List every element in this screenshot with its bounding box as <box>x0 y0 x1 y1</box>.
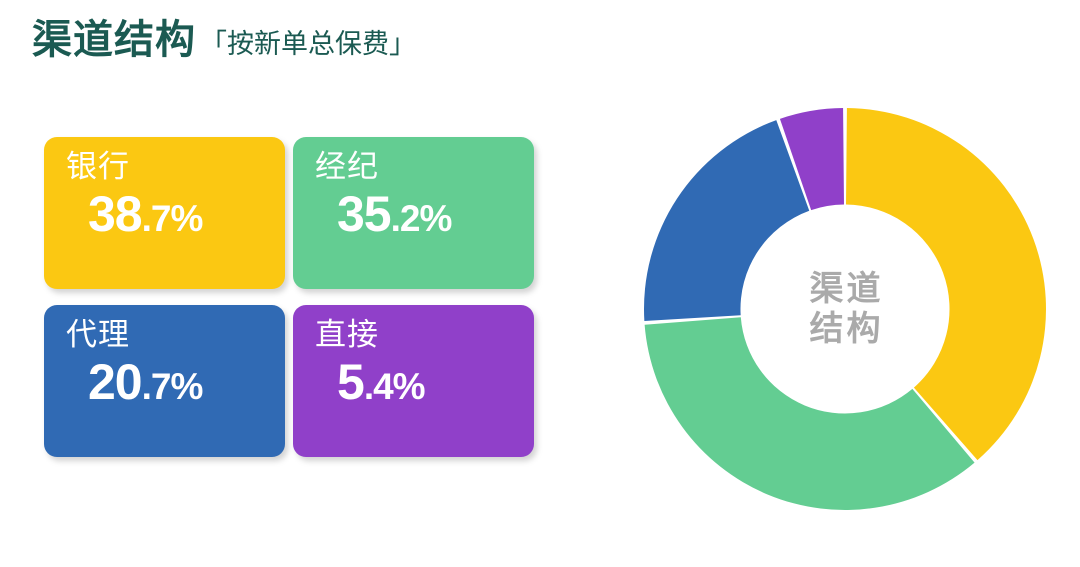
channel-card-direct-label: 直接 <box>315 318 534 353</box>
channel-card-broker-value-integer: 35 <box>337 186 391 242</box>
channel-card-bank-label: 银行 <box>66 150 285 185</box>
channel-card-broker[interactable]: 经纪 35.2% <box>293 137 534 289</box>
channel-card-agent-value-integer: 20 <box>88 354 142 410</box>
channel-card-direct-value-integer: 5 <box>337 354 364 410</box>
page-title: 渠道结构 「按新单总保费」 <box>32 20 416 60</box>
page-title-main: 渠道结构 <box>32 20 196 60</box>
channel-card-broker-value: 35.2% <box>315 189 534 239</box>
channel-card-agent-label: 代理 <box>66 318 285 353</box>
channel-card-agent-value-fraction: .7% <box>142 366 203 407</box>
channel-card-broker-value-fraction: .2% <box>391 198 452 239</box>
channel-card-direct-value-fraction: .4% <box>364 366 425 407</box>
channel-donut-chart: 渠道 结构 <box>630 94 1060 524</box>
donut-slice-银行[interactable] <box>846 108 1046 460</box>
donut-slice-经纪[interactable] <box>645 317 975 510</box>
channel-card-direct-value: 5.4% <box>315 357 534 407</box>
channel-card-direct[interactable]: 直接 5.4% <box>293 305 534 457</box>
donut-slice-代理[interactable] <box>644 120 809 321</box>
donut-svg <box>630 94 1060 524</box>
channel-card-agent-value: 20.7% <box>66 357 285 407</box>
channel-card-grid: 银行 38.7% 经纪 35.2% 代理 20.7% 直接 5.4% <box>44 137 534 457</box>
channel-card-broker-label: 经纪 <box>315 150 534 185</box>
channel-card-bank-value-integer: 38 <box>88 186 142 242</box>
channel-card-bank-value-fraction: .7% <box>142 198 203 239</box>
channel-card-bank-value: 38.7% <box>66 189 285 239</box>
channel-card-agent[interactable]: 代理 20.7% <box>44 305 285 457</box>
page-title-subtitle: 「按新单总保费」 <box>200 31 416 58</box>
channel-card-bank[interactable]: 银行 38.7% <box>44 137 285 289</box>
